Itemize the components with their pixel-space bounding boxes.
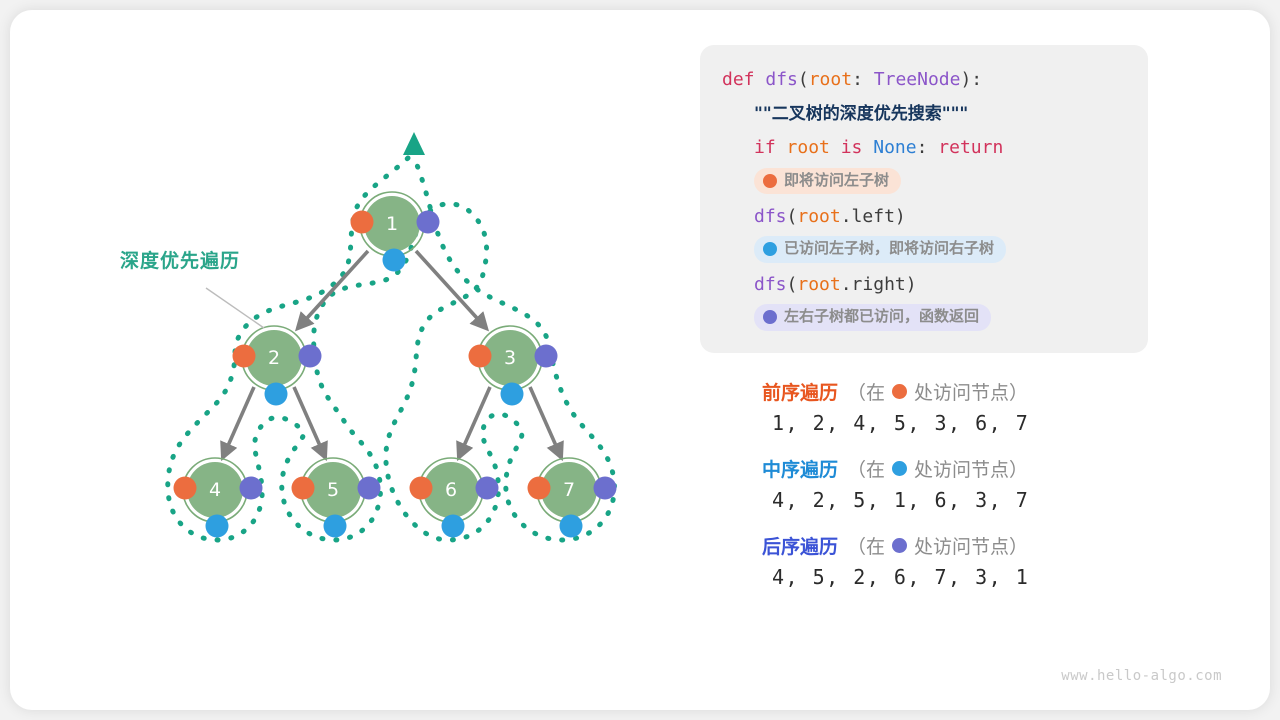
keyword-def: def	[722, 69, 765, 90]
order-note: （在 处访问节点）	[847, 378, 1028, 405]
function-name: dfs	[765, 69, 798, 90]
binary-tree-diagram: 1 2 3	[10, 10, 700, 710]
traversal-orders: 前序遍历 （在 处访问节点） 1, 2, 4, 5, 3, 6, 7 中序遍历 …	[762, 378, 1192, 609]
order-group-postorder: 后序遍历 （在 处访问节点） 4, 5, 2, 6, 7, 3, 1	[762, 532, 1192, 589]
order-note-right: 处访问节点）	[914, 378, 1028, 405]
order-heading: 后序遍历 （在 处访问节点）	[762, 532, 1192, 559]
code-line-guard: if root is None: return	[722, 131, 1128, 165]
paren-close: )	[895, 206, 906, 227]
preorder-dot	[410, 477, 433, 500]
attr-right: .right	[841, 274, 906, 295]
edge-2-5	[294, 387, 325, 457]
badge-inorder-label: 已访问左子树，即将访问右子树	[784, 238, 994, 260]
edge-3-6	[459, 387, 490, 457]
type-colon: :	[852, 69, 874, 90]
order-heading: 前序遍历 （在 处访问节点）	[762, 378, 1192, 405]
postorder-dot	[240, 477, 263, 500]
site-watermark: www.hello-algo.com	[1061, 668, 1222, 684]
tree-node-label: 6	[445, 479, 457, 501]
var-root: root	[797, 274, 840, 295]
dfs-start-triangle-icon	[403, 132, 425, 155]
inorder-dot	[560, 515, 583, 538]
keyword-if: if	[754, 137, 787, 158]
inorder-dot	[324, 515, 347, 538]
tree-node-label: 7	[563, 479, 575, 501]
postorder-dot	[358, 477, 381, 500]
tree-node-label: 4	[209, 479, 221, 501]
preorder-dot	[528, 477, 551, 500]
keyword-return: return	[938, 137, 1003, 158]
guard-colon: :	[917, 137, 939, 158]
order-note: （在 处访问节点）	[847, 455, 1028, 482]
order-group-inorder: 中序遍历 （在 处访问节点） 4, 2, 5, 1, 6, 3, 7	[762, 455, 1192, 512]
paren-open: (	[787, 274, 798, 295]
call-dfs: dfs	[754, 206, 787, 227]
signature-tail: ):	[960, 69, 982, 90]
postorder-dot	[476, 477, 499, 500]
code-block: def dfs(root: TreeNode): ""二叉树的深度优先搜索"""…	[700, 45, 1148, 353]
code-line-dfs-right: dfs(root.right)	[722, 268, 1128, 302]
tree-node-7[interactable]: 7	[528, 458, 617, 538]
inorder-dot	[501, 383, 524, 406]
order-note-left: （在	[847, 455, 885, 482]
order-sequence: 4, 5, 2, 6, 7, 3, 1	[772, 565, 1192, 589]
var-root: root	[787, 137, 830, 158]
order-note-right: 处访问节点）	[914, 532, 1028, 559]
screenshot-root: 1 2 3	[0, 0, 1280, 720]
preorder-dot	[351, 211, 374, 234]
paren-close: )	[906, 274, 917, 295]
attr-left: .left	[841, 206, 895, 227]
keyword-is: is	[830, 137, 873, 158]
docstring-text: ""二叉树的深度优先搜索"""	[754, 104, 968, 124]
inorder-dot	[206, 515, 229, 538]
illustration-card: 1 2 3	[10, 10, 1270, 710]
paren-open: (	[798, 69, 809, 90]
order-note-left: （在	[847, 532, 885, 559]
preorder-dot	[469, 345, 492, 368]
inorder-dot	[383, 249, 406, 272]
call-dfs: dfs	[754, 274, 787, 295]
order-sequence: 1, 2, 4, 5, 3, 6, 7	[772, 411, 1192, 435]
constant-none: None	[873, 137, 916, 158]
tree-node-label: 2	[268, 347, 280, 369]
inorder-dot	[442, 515, 465, 538]
tree-node-2[interactable]: 2	[233, 326, 322, 406]
postorder-dot	[594, 477, 617, 500]
badge-postorder-label: 左右子树都已访问，函数返回	[784, 306, 979, 328]
code-line-badge-preorder: 即将访问左子树	[722, 166, 1128, 200]
code-line-badge-postorder: 左右子树都已访问，函数返回	[722, 302, 1128, 336]
paren-open: (	[787, 206, 798, 227]
tree-node-6[interactable]: 6	[410, 458, 499, 538]
tree-svg: 1 2 3	[10, 10, 700, 710]
inorder-dot	[265, 383, 288, 406]
tree-node-3[interactable]: 3	[469, 326, 558, 406]
inorder-dot-icon	[763, 242, 777, 256]
order-group-preorder: 前序遍历 （在 处访问节点） 1, 2, 4, 5, 3, 6, 7	[762, 378, 1192, 435]
postorder-dot-icon	[763, 310, 777, 324]
dfs-traversal-label: 深度优先遍历	[120, 246, 240, 273]
edge-3-7	[530, 387, 561, 457]
order-note-left: （在	[847, 378, 885, 405]
preorder-dot	[233, 345, 256, 368]
edge-1-2	[298, 251, 368, 328]
edge-2-4	[223, 387, 254, 457]
postorder-dot	[535, 345, 558, 368]
tree-node-5[interactable]: 5	[292, 458, 381, 538]
code-line-badge-inorder: 已访问左子树，即将访问右子树	[722, 234, 1128, 268]
dfs-label-leader-line	[206, 288, 264, 328]
preorder-dot-icon	[892, 384, 907, 399]
order-note: （在 处访问节点）	[847, 532, 1028, 559]
badge-preorder-label: 即将访问左子树	[784, 170, 889, 192]
badge-inorder: 已访问左子树，即将访问右子树	[754, 236, 1006, 263]
var-root: root	[797, 206, 840, 227]
order-heading: 中序遍历 （在 处访问节点）	[762, 455, 1192, 482]
code-line-signature: def dfs(root: TreeNode):	[722, 63, 1128, 97]
code-line-docstring: ""二叉树的深度优先搜索"""	[722, 97, 1128, 131]
order-name: 后序遍历	[762, 532, 838, 559]
postorder-dot	[299, 345, 322, 368]
tree-node-label: 5	[327, 479, 339, 501]
inorder-dot-icon	[892, 461, 907, 476]
badge-preorder: 即将访问左子树	[754, 168, 901, 195]
badge-postorder: 左右子树都已访问，函数返回	[754, 304, 991, 331]
code-line-dfs-left: dfs(root.left)	[722, 200, 1128, 234]
order-name: 中序遍历	[762, 455, 838, 482]
preorder-dot	[292, 477, 315, 500]
tree-node-label: 1	[386, 213, 398, 235]
order-note-right: 处访问节点）	[914, 455, 1028, 482]
param-root: root	[809, 69, 852, 90]
order-name: 前序遍历	[762, 378, 838, 405]
type-treenode: TreeNode	[874, 69, 961, 90]
tree-node-4[interactable]: 4	[174, 458, 263, 538]
preorder-dot	[174, 477, 197, 500]
postorder-dot	[417, 211, 440, 234]
order-sequence: 4, 2, 5, 1, 6, 3, 7	[772, 488, 1192, 512]
tree-node-label: 3	[504, 347, 516, 369]
preorder-dot-icon	[763, 174, 777, 188]
postorder-dot-icon	[892, 538, 907, 553]
